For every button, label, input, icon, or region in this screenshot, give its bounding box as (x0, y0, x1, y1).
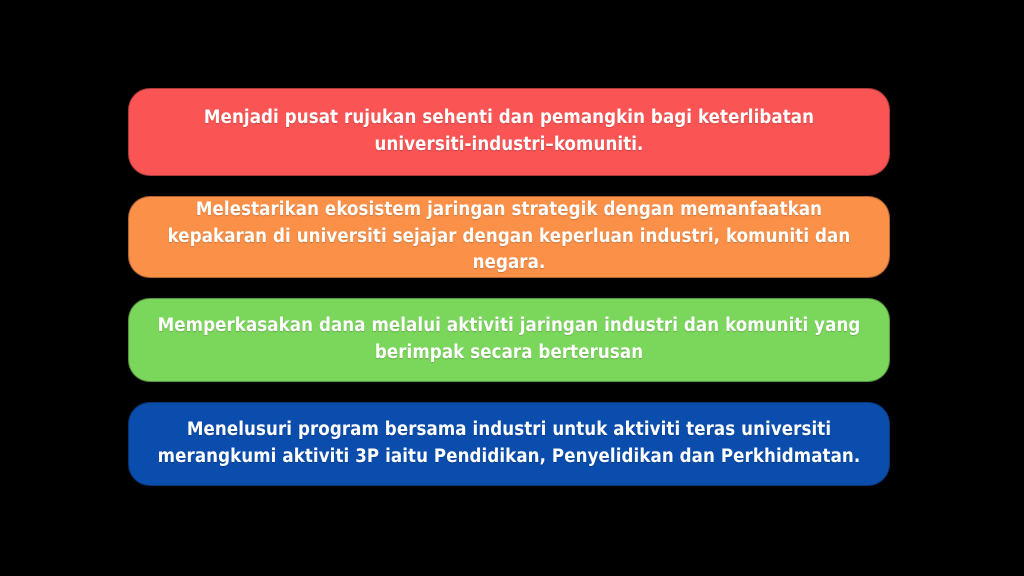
objective-card-program-bersama-industri[interactable]: Menelusuri program bersama industri untu… (128, 402, 890, 486)
objective-card-pusat-rujukan[interactable]: Menjadi pusat rujukan sehenti dan pemang… (128, 88, 890, 176)
objective-card-memperkasakan-dana[interactable]: Memperkasakan dana melalui aktiviti jari… (128, 298, 890, 382)
objective-card-text: Melestarikan ekosistem jaringan strategi… (155, 197, 863, 277)
objective-card-stack: Menjadi pusat rujukan sehenti dan pemang… (128, 88, 890, 486)
objective-card-text: Menjadi pusat rujukan sehenti dan pemang… (155, 105, 863, 159)
objective-card-ekosistem-jaringan[interactable]: Melestarikan ekosistem jaringan strategi… (128, 196, 890, 278)
objective-card-text: Memperkasakan dana melalui aktiviti jari… (155, 313, 863, 367)
slide-canvas: Menjadi pusat rujukan sehenti dan pemang… (0, 0, 1024, 576)
objective-card-text: Menelusuri program bersama industri untu… (155, 417, 863, 471)
